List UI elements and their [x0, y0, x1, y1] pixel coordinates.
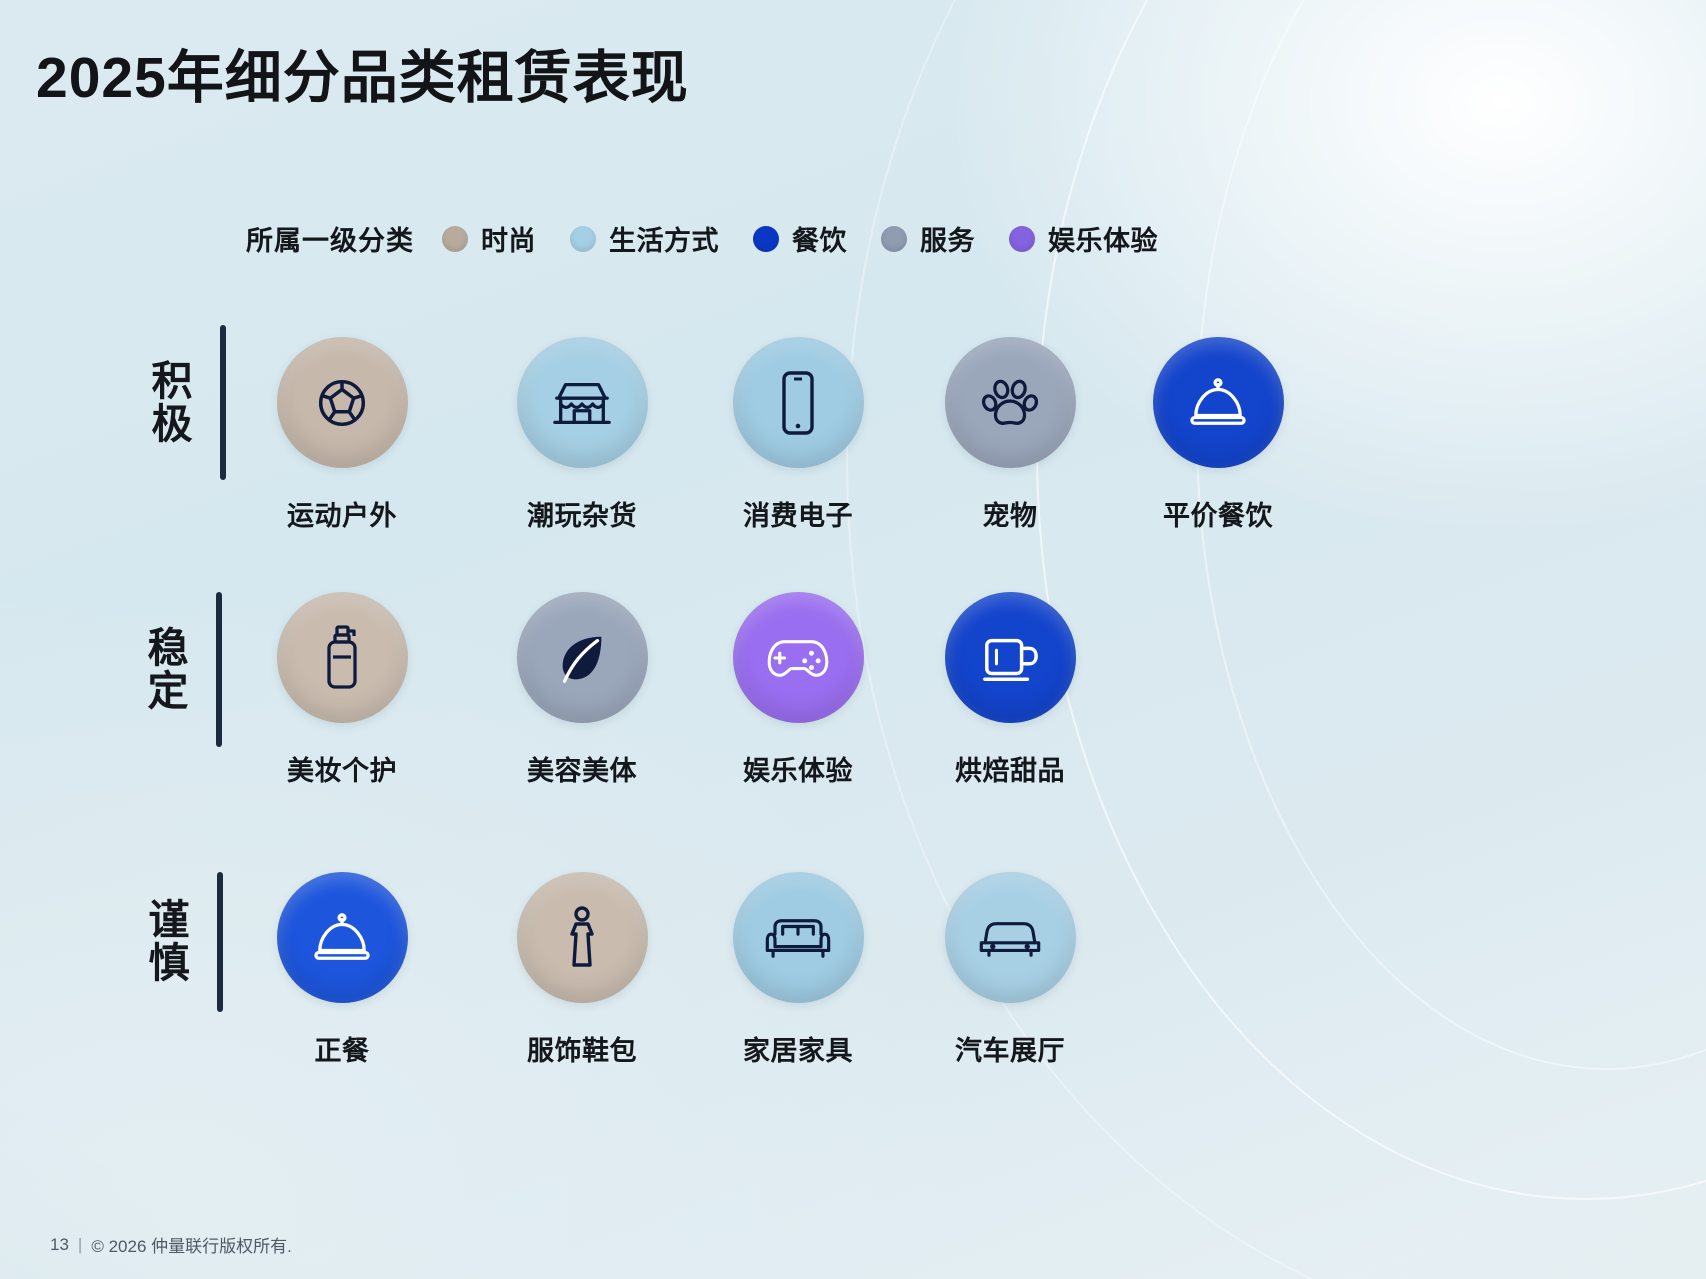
footer-copyright: © 2026 仲量联行版权所有.: [91, 1232, 292, 1257]
category-cell[interactable]: 平价餐饮: [1118, 337, 1318, 533]
category-label: 正餐: [242, 1029, 442, 1068]
legend: 所属一级分类 时尚 生活方式 餐饮 服务 娱乐体验: [246, 219, 1192, 258]
row-divider-bar: [220, 325, 226, 480]
category-label: 烘焙甜品: [910, 749, 1110, 788]
row-label: 稳 定: [136, 627, 200, 712]
category-label: 宠物: [910, 494, 1110, 533]
paw-print-icon: [979, 373, 1041, 433]
footer-separator: |: [78, 1235, 82, 1255]
row-divider-bar: [216, 592, 222, 747]
dress-bubble[interactable]: [517, 872, 648, 1003]
legend-title: 所属一级分类: [246, 219, 414, 258]
storefront-icon: [549, 372, 615, 434]
legend-dot-fnb: [753, 226, 779, 252]
category-cell[interactable]: 美妆个护: [242, 592, 442, 788]
row-label: 积 极: [140, 360, 204, 445]
legend-label-entertainment: 娱乐体验: [1048, 219, 1158, 258]
row-header-0: 积 极: [140, 325, 226, 480]
legend-dot-fashion: [442, 226, 468, 252]
soccer-ball-bubble[interactable]: [277, 337, 408, 468]
category-label: 汽车展厅: [910, 1029, 1110, 1068]
page-title: 2025年细分品类租赁表现: [36, 32, 689, 114]
food-cloche-bubble[interactable]: [277, 872, 408, 1003]
car-bubble[interactable]: [945, 872, 1076, 1003]
legend-item-fashion[interactable]: 时尚: [442, 219, 536, 258]
decorative-arc-mid: [1036, 0, 1706, 1200]
category-cell[interactable]: 运动户外: [242, 337, 442, 533]
paw-print-bubble[interactable]: [945, 337, 1076, 468]
legend-item-entertainment[interactable]: 娱乐体验: [1009, 219, 1158, 258]
row-header-1: 稳 定: [136, 592, 222, 747]
cosmetic-bottle-icon: [320, 624, 364, 692]
category-cell[interactable]: 汽车展厅: [910, 872, 1110, 1068]
category-label: 美容美体: [482, 749, 682, 788]
legend-item-services[interactable]: 服务: [881, 219, 975, 258]
category-label: 美妆个护: [242, 749, 442, 788]
category-label: 娱乐体验: [698, 749, 898, 788]
soccer-ball-icon: [311, 372, 373, 434]
leaf-icon: [551, 627, 613, 689]
smartphone-icon: [776, 369, 820, 437]
legend-label-lifestyle: 生活方式: [609, 219, 719, 258]
category-label: 家居家具: [698, 1029, 898, 1068]
gamepad-bubble[interactable]: [733, 592, 864, 723]
legend-dot-entertainment: [1009, 226, 1035, 252]
footer: 13 | © 2026 仲量联行版权所有.: [50, 1232, 292, 1257]
category-cell[interactable]: 宠物: [910, 337, 1110, 533]
category-cell[interactable]: 烘焙甜品: [910, 592, 1110, 788]
category-cell[interactable]: 家居家具: [698, 872, 898, 1068]
footer-page-number: 13: [50, 1235, 69, 1255]
food-cloche-bubble[interactable]: [1153, 337, 1284, 468]
slide-root: 2025年细分品类租赁表现 所属一级分类 时尚 生活方式 餐饮 服务 娱乐体验 …: [0, 0, 1706, 1279]
category-cell[interactable]: 正餐: [242, 872, 442, 1068]
sofa-icon: [765, 915, 831, 961]
category-cell[interactable]: 娱乐体验: [698, 592, 898, 788]
gamepad-icon: [765, 634, 831, 682]
category-label: 潮玩杂货: [482, 494, 682, 533]
dress-icon: [561, 905, 603, 971]
smartphone-bubble[interactable]: [733, 337, 864, 468]
row-label: 谨 慎: [137, 899, 201, 984]
legend-label-fashion: 时尚: [481, 219, 536, 258]
category-cell[interactable]: 消费电子: [698, 337, 898, 533]
leaf-bubble[interactable]: [517, 592, 648, 723]
category-label: 运动户外: [242, 494, 442, 533]
sofa-bubble[interactable]: [733, 872, 864, 1003]
storefront-bubble[interactable]: [517, 337, 648, 468]
row-header-2: 谨 慎: [137, 872, 223, 1012]
car-icon: [977, 916, 1043, 960]
legend-dot-services: [881, 226, 907, 252]
food-cloche-icon: [311, 910, 373, 966]
legend-dot-lifestyle: [570, 226, 596, 252]
decorative-arc-inner: [1196, 0, 1706, 1070]
cosmetic-bottle-bubble[interactable]: [277, 592, 408, 723]
coffee-cup-icon: [979, 629, 1041, 687]
coffee-cup-bubble[interactable]: [945, 592, 1076, 723]
row-divider-bar: [217, 872, 223, 1012]
category-cell[interactable]: 美容美体: [482, 592, 682, 788]
legend-label-services: 服务: [920, 219, 975, 258]
legend-item-fnb[interactable]: 餐饮: [753, 219, 847, 258]
category-label: 服饰鞋包: [482, 1029, 682, 1068]
category-label: 平价餐饮: [1118, 494, 1318, 533]
category-cell[interactable]: 潮玩杂货: [482, 337, 682, 533]
food-cloche-icon: [1187, 375, 1249, 431]
legend-item-lifestyle[interactable]: 生活方式: [570, 219, 719, 258]
category-cell[interactable]: 服饰鞋包: [482, 872, 682, 1068]
legend-label-fnb: 餐饮: [792, 219, 847, 258]
category-label: 消费电子: [698, 494, 898, 533]
